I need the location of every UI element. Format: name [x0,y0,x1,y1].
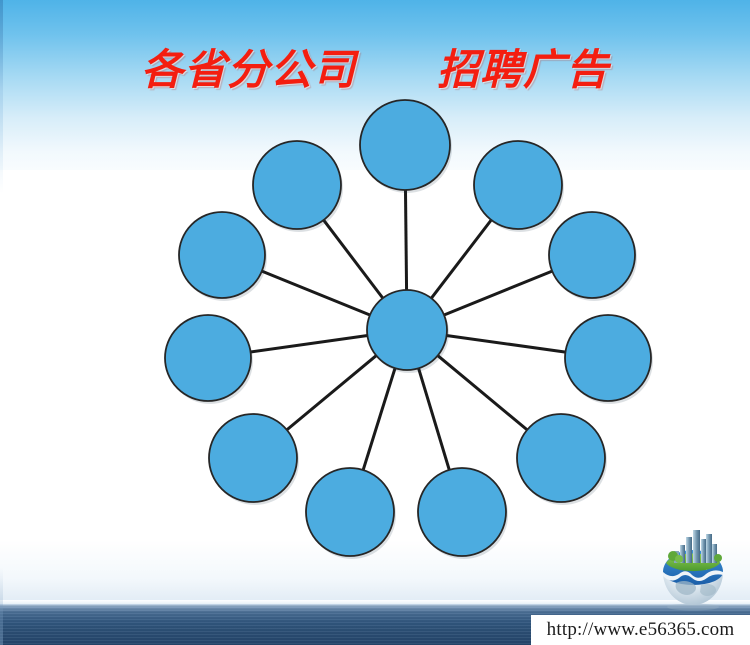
node-top[interactable] [360,100,452,193]
node-upper-right[interactable] [474,141,564,232]
node-upper-right-shape[interactable] [474,141,562,229]
node-center-hub-shape[interactable] [367,290,447,370]
spoke-to-node-bottom-right [418,366,450,471]
node-upper-left[interactable] [253,141,343,232]
node-left-mid[interactable] [165,315,253,404]
spoke-to-node-lower-left [285,354,377,431]
node-upper-left-shape[interactable] [253,141,341,229]
spoke-to-node-left-mid [249,335,370,352]
nodes-layer [165,100,653,559]
hub-and-spoke-diagram [0,0,750,645]
node-right-upper-shape[interactable] [549,212,635,298]
spoke-to-node-lower-right [436,354,528,431]
node-lower-left-shape[interactable] [209,414,297,502]
spoke-to-node-upper-right [430,218,492,299]
node-top-shape[interactable] [360,100,450,190]
spoke-to-node-top [405,188,406,292]
spoke-to-node-upper-left [322,218,384,299]
node-bottom-right-shape[interactable] [418,468,506,556]
spoke-to-node-left-upper [260,270,372,315]
node-bottom-right[interactable] [418,468,508,559]
node-right-upper[interactable] [549,212,637,301]
node-left-upper[interactable] [179,212,267,301]
node-bottom-left-shape[interactable] [306,468,394,556]
spoke-to-node-bottom-left [363,366,396,472]
node-right-mid[interactable] [565,315,653,404]
spoke-to-node-right-mid [445,335,568,352]
node-right-mid-shape[interactable] [565,315,651,401]
watermark-url: http://www.e56365.com [547,619,735,641]
watermark-box: http://www.e56365.com [531,615,750,645]
node-center-hub[interactable] [367,290,449,373]
globe-city-logo [646,525,740,611]
node-lower-right-shape[interactable] [517,414,605,502]
slide-canvas: 各省分公司 招聘广告 [0,0,750,645]
node-left-mid-shape[interactable] [165,315,251,401]
node-lower-right[interactable] [517,414,607,505]
node-left-upper-shape[interactable] [179,212,265,298]
node-lower-left[interactable] [209,414,299,505]
spoke-to-node-right-upper [442,270,554,315]
node-bottom-left[interactable] [306,468,396,559]
